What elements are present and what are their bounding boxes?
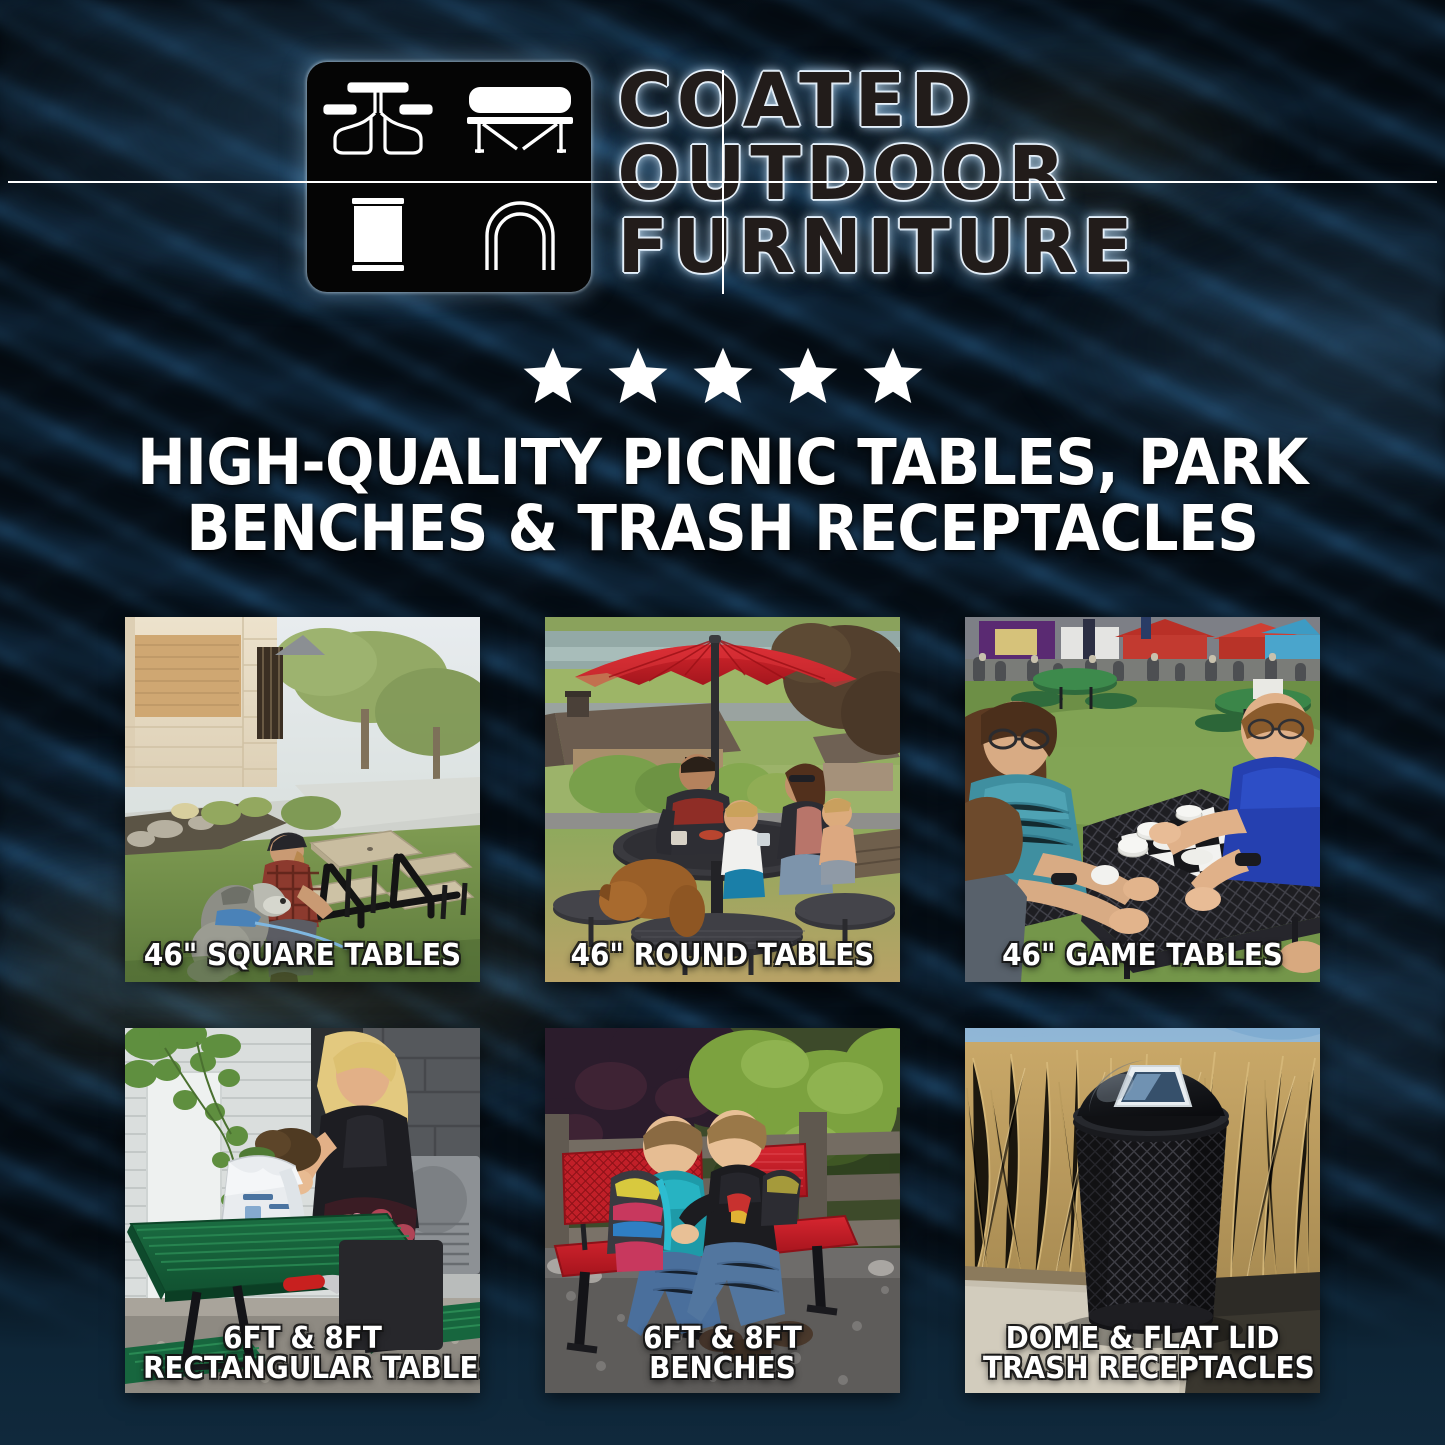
star-icon <box>691 345 755 407</box>
caption-line-2: BENCHES <box>563 1354 882 1385</box>
star-rating <box>0 338 1445 414</box>
star-icon <box>861 345 925 407</box>
product-tile-rectangular-tables[interactable]: 6FT & 8FT RECTANGULAR TABLES <box>125 1028 480 1393</box>
star-icon <box>606 345 670 407</box>
headline-line-1: HIGH-QUALITY PICNIC TABLES, PARK <box>113 430 1332 496</box>
product-photo-game-tables <box>965 617 1320 982</box>
headline-line-2: BENCHES & TRASH RECEPTACLES <box>113 496 1332 562</box>
brand-line-1: COATED <box>617 66 1137 137</box>
caption-line-1: 46" SQUARE TABLES <box>143 941 462 972</box>
caption-line-1: 6FT & 8FT <box>143 1324 462 1355</box>
caption-line-1: 6FT & 8FT <box>563 1324 882 1355</box>
product-tile-square-tables[interactable]: 46" SQUARE TABLES <box>125 617 480 982</box>
brand-line-2: OUTDOOR <box>617 139 1137 210</box>
product-tile-game-tables[interactable]: 46" GAME TABLES <box>965 617 1320 982</box>
picnic-table-icon <box>307 62 449 177</box>
product-tile-trash-receptacles[interactable]: DOME & FLAT LID TRASH RECEPTACLES <box>965 1028 1320 1393</box>
caption-line-1: 46" GAME TABLES <box>983 941 1302 972</box>
brand-wordmark: COATED OUTDOOR FURNITURE <box>617 62 1137 283</box>
trash-receptacle-icon <box>307 177 449 292</box>
advertisement-banner: COATED OUTDOOR FURNITURE HIGH-QUALITY PI… <box>0 0 1445 1445</box>
logo-mark <box>307 62 591 292</box>
product-grid: 46" SQUARE TABLES <box>125 617 1320 1393</box>
product-tile-round-tables[interactable]: 46" ROUND TABLES <box>545 617 900 982</box>
star-icon <box>776 345 840 407</box>
product-caption-round-tables: 46" ROUND TABLES <box>563 941 882 972</box>
caption-line-2: RECTANGULAR TABLES <box>143 1354 462 1385</box>
product-caption-trash-receptacles: DOME & FLAT LID TRASH RECEPTACLES <box>983 1324 1302 1385</box>
logo-divider-horizontal <box>307 181 591 183</box>
caption-line-2: TRASH RECEPTACLES <box>983 1354 1302 1385</box>
product-caption-game-tables: 46" GAME TABLES <box>983 941 1302 972</box>
product-photo-round-tables <box>545 617 900 982</box>
brand-header: COATED OUTDOOR FURNITURE <box>0 62 1445 302</box>
headline: HIGH-QUALITY PICNIC TABLES, PARK BENCHES… <box>113 430 1332 561</box>
brand-line-3: FURNITURE <box>617 212 1137 283</box>
star-icon <box>521 345 585 407</box>
bench-icon <box>449 62 591 177</box>
product-tile-benches[interactable]: 6FT & 8FT BENCHES <box>545 1028 900 1393</box>
product-photo-square-tables <box>125 617 480 982</box>
product-caption-square-tables: 46" SQUARE TABLES <box>143 941 462 972</box>
product-caption-rectangular-tables: 6FT & 8FT RECTANGULAR TABLES <box>143 1324 462 1385</box>
product-caption-benches: 6FT & 8FT BENCHES <box>563 1324 882 1385</box>
caption-line-1: 46" ROUND TABLES <box>563 941 882 972</box>
bike-rack-icon <box>449 177 591 292</box>
caption-line-1: DOME & FLAT LID <box>983 1324 1302 1355</box>
